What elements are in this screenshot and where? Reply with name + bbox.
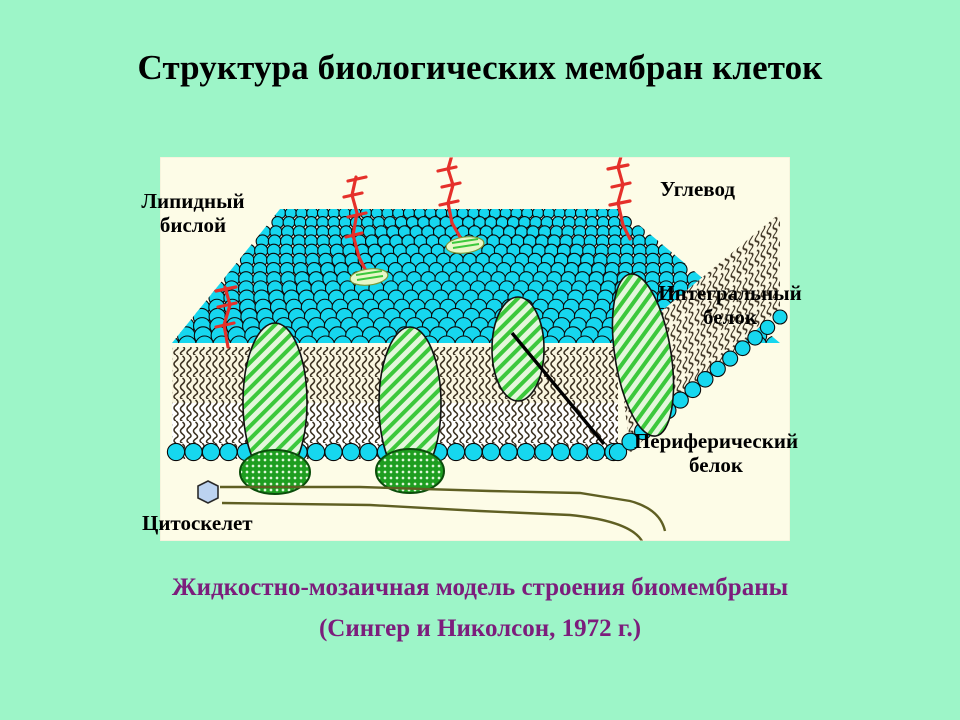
phospholipid-head — [185, 443, 202, 460]
cytoskeleton-node — [198, 481, 218, 503]
phospholipid-head — [360, 443, 377, 460]
phospholipid-head — [710, 361, 725, 376]
label-peripheral-protein-line1: Периферический — [634, 429, 798, 453]
phospholipid-head — [465, 443, 482, 460]
label-carbohydrate: Углевод — [660, 178, 810, 202]
integral-protein — [492, 297, 544, 401]
label-peripheral-protein-line2: белок — [689, 453, 743, 477]
phospholipid-head — [342, 443, 359, 460]
label-lipid-bilayer-line2: бислой — [160, 213, 226, 237]
label-cytoskeleton: Цитоскелет — [142, 512, 312, 536]
label-integral-protein-line1: Интегральный — [658, 281, 801, 305]
peripheral-protein — [376, 449, 444, 493]
phospholipid-head — [167, 443, 184, 460]
phospholipid-head — [685, 382, 701, 398]
phospholipid-head — [517, 443, 534, 460]
phospholipid-head — [748, 331, 762, 345]
label-peripheral-protein: Периферический белок — [598, 430, 834, 477]
page-title: Структура биологических мембран клеток — [0, 48, 960, 88]
phospholipid-head — [535, 443, 552, 460]
phospholipid-head — [552, 443, 569, 460]
phospholipid-head — [482, 443, 499, 460]
phospholipid-head — [500, 443, 517, 460]
slide: Структура биологических мембран клеток — [0, 0, 960, 720]
label-integral-protein: Интегральный белок — [620, 282, 840, 329]
caption-line-2: (Сингер и Николсон, 1972 г.) — [0, 609, 960, 650]
caption-line-1: Жидкостно-мозаичная модель строения биом… — [172, 574, 788, 601]
phospholipid-head — [697, 372, 712, 387]
phospholipid-head — [202, 443, 219, 460]
label-lipid-bilayer-line1: Липидный — [141, 189, 244, 213]
phospholipid-head — [570, 443, 587, 460]
phospholipid-head — [220, 443, 237, 460]
label-lipid-bilayer: Липидный бислой — [108, 190, 278, 237]
label-integral-protein-line2: белок — [703, 305, 757, 329]
phospholipid-head — [447, 443, 464, 460]
phospholipid-head — [307, 443, 324, 460]
phospholipid-head — [735, 341, 750, 356]
phospholipid-head — [723, 351, 738, 366]
phospholipid-head — [325, 443, 342, 460]
slide-caption: Жидкостно-мозаичная модель строения биом… — [0, 568, 960, 649]
